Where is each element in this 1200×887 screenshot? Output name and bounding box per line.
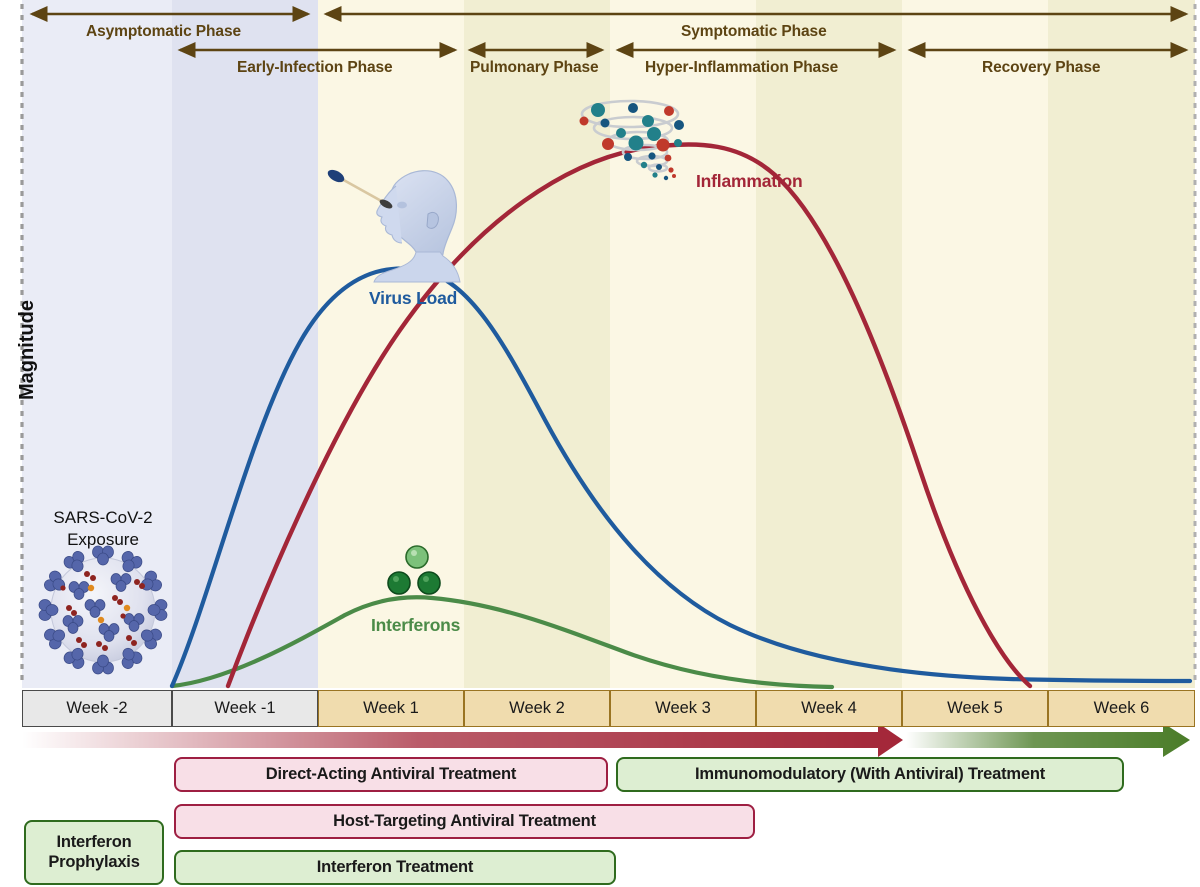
inflammation-curve: [228, 144, 1030, 686]
symptomatic-phase-label: Symptomatic Phase: [681, 23, 827, 41]
nasal-swab-head-icon: [326, 167, 460, 282]
host-targeting-antiviral-treatment-box[interactable]: Host-Targeting Antiviral Treatment: [174, 804, 755, 839]
antiviral-gradient-arrow: [22, 723, 903, 757]
week-cell-week-1[interactable]: Week 1: [318, 690, 464, 727]
week-cell-week-6[interactable]: Week 6: [1048, 690, 1195, 727]
week-cell-week--1[interactable]: Week -1: [172, 690, 318, 727]
exposure-caption-line-2: Exposure: [23, 529, 183, 551]
virus-load-label: Virus Load: [369, 288, 457, 309]
inflammation-label: Inflammation: [696, 171, 803, 192]
direct-acting-antiviral-treatment-box[interactable]: Direct-Acting Antiviral Treatment: [174, 757, 608, 792]
hyper-inflammation-phase-label: Hyper-Inflammation Phase: [645, 59, 838, 77]
sars-cov-2-exposure-caption: SARS-CoV-2 Exposure: [23, 507, 183, 552]
week-cell-week-4[interactable]: Week 4: [756, 690, 902, 727]
week-cell-week-2[interactable]: Week 2: [464, 690, 610, 727]
covid-timeline-figure: Asymptomatic Phase Symptomatic Phase Ear…: [0, 0, 1200, 887]
week-cell-week-3[interactable]: Week 3: [610, 690, 756, 727]
asymptomatic-phase-label: Asymptomatic Phase: [86, 23, 241, 41]
virus-load-curve: [172, 268, 1190, 686]
interferons-label: Interferons: [371, 615, 460, 636]
interferons-curve: [172, 597, 832, 687]
sars-cov-2-virion-icon: [39, 546, 167, 674]
interferon-molecules-icon: [388, 546, 440, 594]
immunomodulatory-gradient-arrow: [906, 723, 1190, 757]
interferon-prophylaxis-box[interactable]: Interferon Prophylaxis: [24, 820, 164, 885]
week-cell-week--2[interactable]: Week -2: [22, 690, 172, 727]
y-axis-label: Magnitude: [16, 300, 39, 400]
treatment-phase-arrows: [22, 723, 1190, 757]
figure-graphics: [0, 0, 1200, 887]
immunomodulatory-treatment-box[interactable]: Immunomodulatory (With Antiviral) Treatm…: [616, 757, 1124, 792]
week-cell-week-5[interactable]: Week 5: [902, 690, 1048, 727]
recovery-phase-label: Recovery Phase: [982, 59, 1100, 77]
cytokine-storm-icon: [580, 101, 685, 180]
background-bands: [22, 0, 1195, 688]
interferon-treatment-box[interactable]: Interferon Treatment: [174, 850, 616, 885]
exposure-caption-line-1: SARS-CoV-2: [23, 507, 183, 529]
early-infection-phase-label: Early-Infection Phase: [237, 59, 393, 77]
pulmonary-phase-label: Pulmonary Phase: [470, 59, 599, 77]
